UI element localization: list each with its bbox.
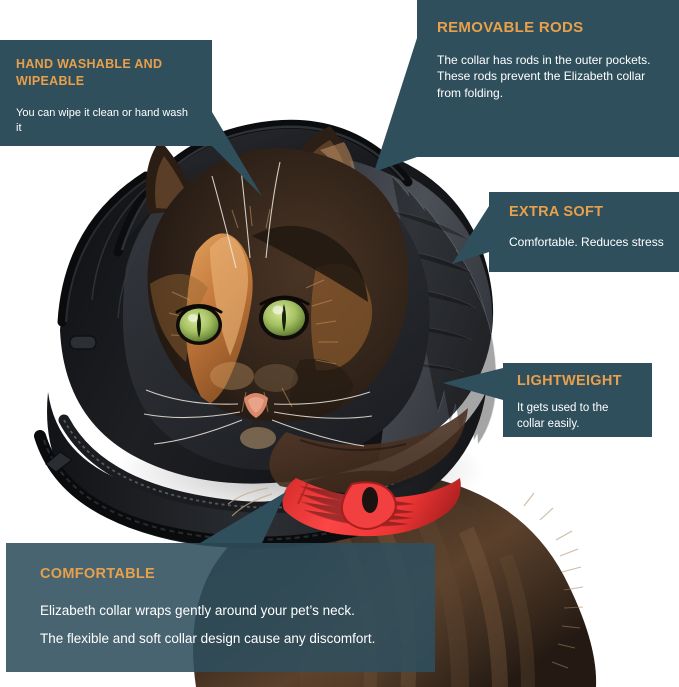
callout-title-extra-soft: EXTRA SOFT bbox=[509, 203, 669, 222]
callout-title-hand-washable: HAND WASHABLE AND WIPEABLE bbox=[16, 56, 196, 89]
callout-title-comfortable: COMFORTABLE bbox=[40, 565, 435, 584]
callout-hand-washable: HAND WASHABLE AND WIPEABLE You can wipe … bbox=[0, 40, 212, 146]
callout-body-comfortable-line2: The flexible and soft collar design caus… bbox=[40, 629, 435, 649]
cat-eye-left bbox=[176, 305, 222, 345]
callout-removable-rods: REMOVABLE RODS The collar has rods in th… bbox=[417, 0, 679, 157]
callout-body-hand-washable: You can wipe it clean or hand wash it bbox=[16, 106, 196, 136]
callout-title-lightweight: LIGHTWEIGHT bbox=[517, 372, 644, 391]
callout-body-lightweight-line2: collar easily. bbox=[517, 417, 644, 433]
callout-lightweight: LIGHTWEIGHT It gets used to the collar e… bbox=[503, 363, 652, 437]
callout-body-lightweight-line1: It gets used to the bbox=[517, 401, 644, 417]
cat-eye-right bbox=[259, 296, 309, 340]
callout-body-removable-rods: The collar has rods in the outer pockets… bbox=[437, 52, 665, 102]
infographic-canvas: HAND WASHABLE AND WIPEABLE You can wipe … bbox=[0, 0, 679, 687]
callout-title-removable-rods: REMOVABLE RODS bbox=[437, 18, 665, 38]
callout-body-comfortable-line1: Elizabeth collar wraps gently around you… bbox=[40, 601, 435, 621]
callout-comfortable: COMFORTABLE Elizabeth collar wraps gentl… bbox=[6, 543, 435, 672]
callout-body-extra-soft: Comfortable. Reduces stress bbox=[509, 234, 669, 251]
callout-extra-soft: EXTRA SOFT Comfortable. Reduces stress bbox=[489, 192, 679, 272]
